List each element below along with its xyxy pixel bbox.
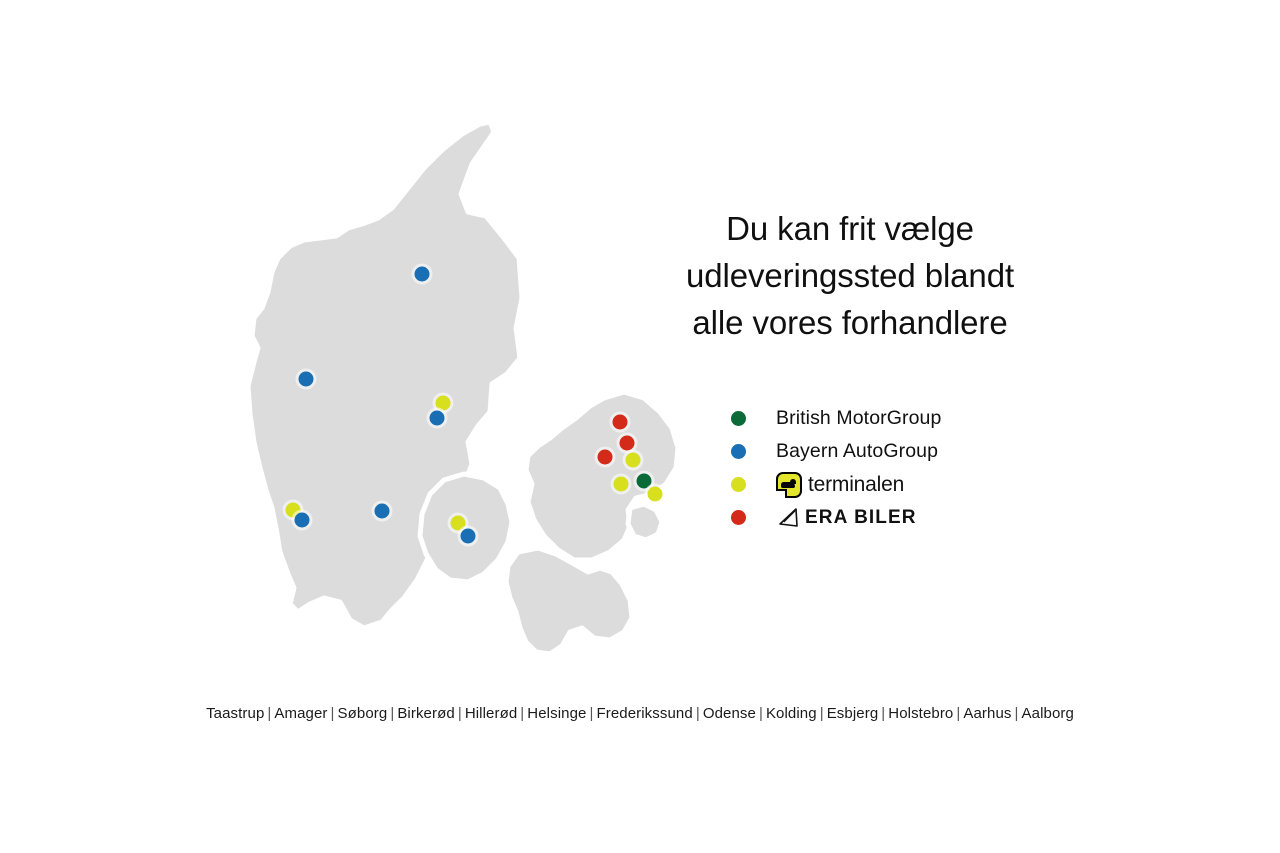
dealer-map-slide: Du kan frit vælge udleveringssted blandt… (0, 0, 1280, 853)
triangle-sail-icon (776, 508, 800, 528)
terminalen-notch (776, 489, 787, 498)
pin-birkerod-terminalen[interactable] (626, 453, 641, 468)
city-name: Odense (703, 705, 756, 722)
page-title: Du kan frit vælge udleveringssted blandt… (620, 205, 1080, 346)
city-separator: | (387, 705, 397, 722)
city-separator: | (756, 705, 766, 722)
legend-label-british-motorgroup: British MotorGroup (776, 407, 941, 430)
pin-taastrup-terminalen[interactable] (614, 477, 629, 492)
city-name: Taastrup (206, 705, 264, 722)
terminalen-mark-icon (776, 472, 802, 498)
city-name: Aarhus (963, 705, 1011, 722)
city-name: Helsinge (527, 705, 586, 722)
legend-label-terminalen: terminalen (808, 473, 904, 497)
city-name: Esbjerg (827, 705, 879, 722)
denmark-map (232, 112, 702, 682)
legend-dot-bayern-autogroup (731, 444, 746, 459)
city-separator: | (264, 705, 274, 722)
city-name: Holstebro (888, 705, 953, 722)
legend-item-terminalen[interactable]: terminalen (731, 468, 1061, 501)
legend-item-british-motorgroup[interactable]: British MotorGroup (731, 402, 1061, 435)
city-name: Frederikssund (596, 705, 692, 722)
city-separator: | (817, 705, 827, 722)
legend-label-era-biler: ERA BILER (805, 507, 917, 529)
denmark-map-svg (232, 112, 702, 682)
pin-odense-bayern[interactable] (461, 529, 476, 544)
pin-aarhus-bayern[interactable] (430, 411, 445, 426)
pin-esbjerg-bayern[interactable] (295, 513, 310, 528)
city-name: Aalborg (1022, 705, 1074, 722)
map-region-lolland-falster (506, 548, 632, 654)
city-separator: | (455, 705, 465, 722)
map-region-small-island-east (628, 504, 662, 540)
city-separator: | (517, 705, 527, 722)
city-list: Taastrup|Amager|Søborg|Birkerød|Hillerød… (0, 705, 1280, 722)
terminalen-logo: terminalen (776, 472, 904, 498)
legend-dot-terminalen (731, 477, 746, 492)
pin-frederikssund-era[interactable] (598, 450, 613, 465)
city-name: Hillerød (465, 705, 517, 722)
legend-item-bayern-autogroup[interactable]: Bayern AutoGroup (731, 435, 1061, 468)
car-icon (781, 482, 795, 488)
city-name: Kolding (766, 705, 817, 722)
pin-holstebro-bayern[interactable] (299, 372, 314, 387)
city-separator: | (328, 705, 338, 722)
city-separator: | (586, 705, 596, 722)
pin-helsinge-era[interactable] (613, 415, 628, 430)
city-separator: | (953, 705, 963, 722)
dealer-legend: British MotorGroup Bayern AutoGroup term… (731, 402, 1061, 534)
pin-hillerod-era[interactable] (620, 436, 635, 451)
pin-aalborg-bayern[interactable] (415, 267, 430, 282)
legend-item-era-biler[interactable]: ERA BILER (731, 501, 1061, 534)
city-name: Amager (274, 705, 327, 722)
city-separator: | (1012, 705, 1022, 722)
legend-label-bayern-autogroup: Bayern AutoGroup (776, 440, 938, 463)
era-biler-logo: ERA BILER (776, 507, 917, 529)
city-name: Birkerød (397, 705, 454, 722)
city-name: Søborg (338, 705, 388, 722)
legend-dot-british-motorgroup (731, 411, 746, 426)
headline-line-1: Du kan frit vælge (620, 205, 1080, 252)
city-separator: | (693, 705, 703, 722)
legend-dot-era-biler (731, 510, 746, 525)
headline-line-2: udleveringssted blandt (620, 252, 1080, 299)
headline-line-3: alle vores forhandlere (620, 299, 1080, 346)
pin-amager-terminalen[interactable] (648, 487, 663, 502)
pin-kolding-bayern[interactable] (375, 504, 390, 519)
city-separator: | (878, 705, 888, 722)
